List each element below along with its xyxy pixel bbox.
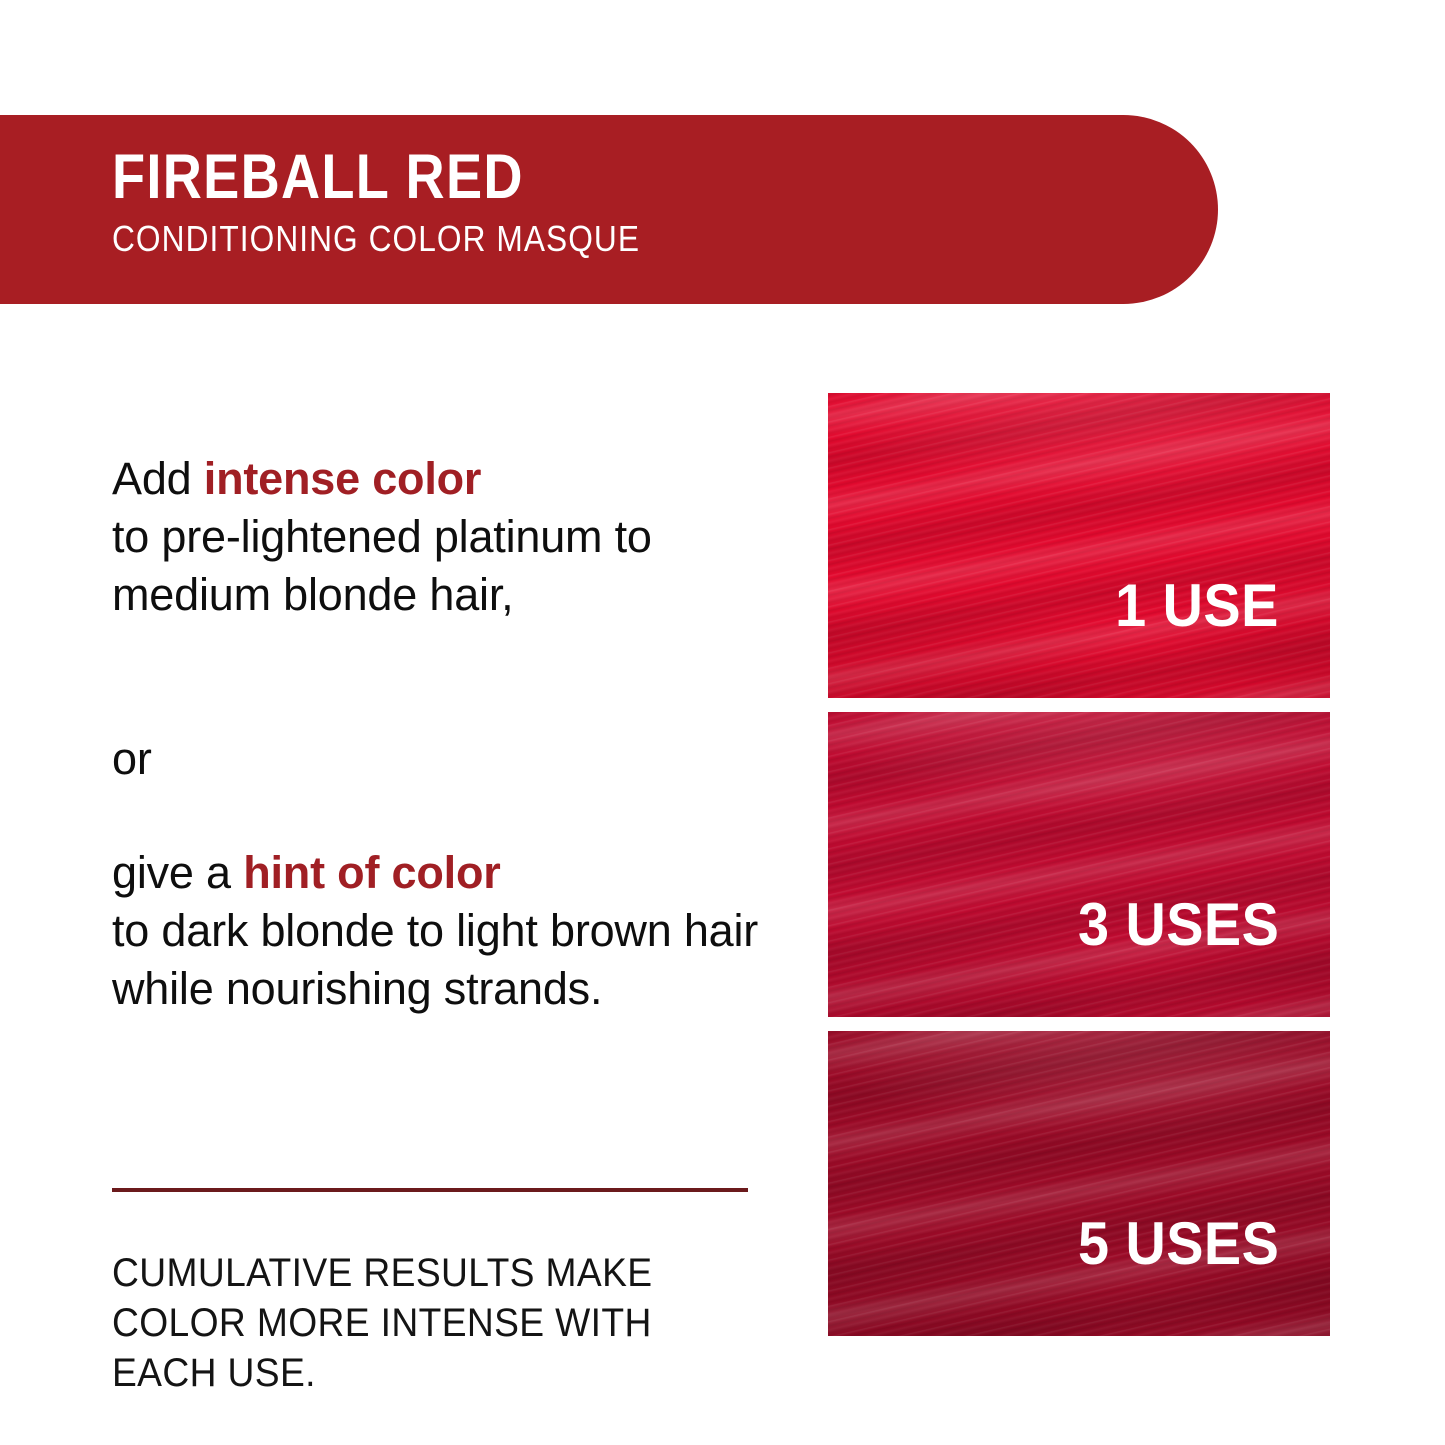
cumulative-results-footnote: CUMULATIVE RESULTS MAKE COLOR MORE INTEN…	[112, 1248, 763, 1398]
benefit-rest-one: to pre-lightened platinum to medium blon…	[112, 511, 652, 620]
product-name: FIREBALL RED	[112, 143, 886, 211]
product-infographic: FIREBALL RED CONDITIONING COLOR MASQUE A…	[0, 0, 1445, 1445]
benefit-rest-two: to dark blonde to light brown hair while…	[112, 905, 758, 1014]
header-banner: FIREBALL RED CONDITIONING COLOR MASQUE	[0, 115, 1218, 304]
benefit-copy-column: Add intense color to pre-lightened plati…	[112, 450, 792, 1018]
header-text-group: FIREBALL RED CONDITIONING COLOR MASQUE	[112, 143, 1012, 261]
benefit-lead-two: give a	[112, 847, 243, 898]
swatch-stack: 1 USE 3 USES 5 USES	[828, 393, 1330, 1336]
swatch-5-uses: 5 USES	[828, 1031, 1330, 1336]
swatch-1-use: 1 USE	[828, 393, 1330, 698]
benefit-lead-one: Add	[112, 453, 204, 504]
swatch-label-5-uses: 5 USES	[1078, 1214, 1330, 1336]
benefit-paragraph-hint: give a hint of color to dark blonde to l…	[112, 844, 792, 1018]
swatch-label-1-use: 1 USE	[1115, 576, 1330, 698]
swatch-3-uses: 3 USES	[828, 712, 1330, 1017]
swatch-label-3-uses: 3 USES	[1078, 895, 1330, 1017]
benefit-highlight-hint-of-color: hint of color	[243, 847, 500, 898]
divider-rule	[112, 1188, 748, 1192]
benefit-connector: or	[112, 730, 792, 788]
benefit-paragraph-intense: Add intense color to pre-lightened plati…	[112, 450, 792, 624]
benefit-highlight-intense-color: intense color	[204, 453, 481, 504]
product-subtitle: CONDITIONING COLOR MASQUE	[112, 217, 904, 261]
